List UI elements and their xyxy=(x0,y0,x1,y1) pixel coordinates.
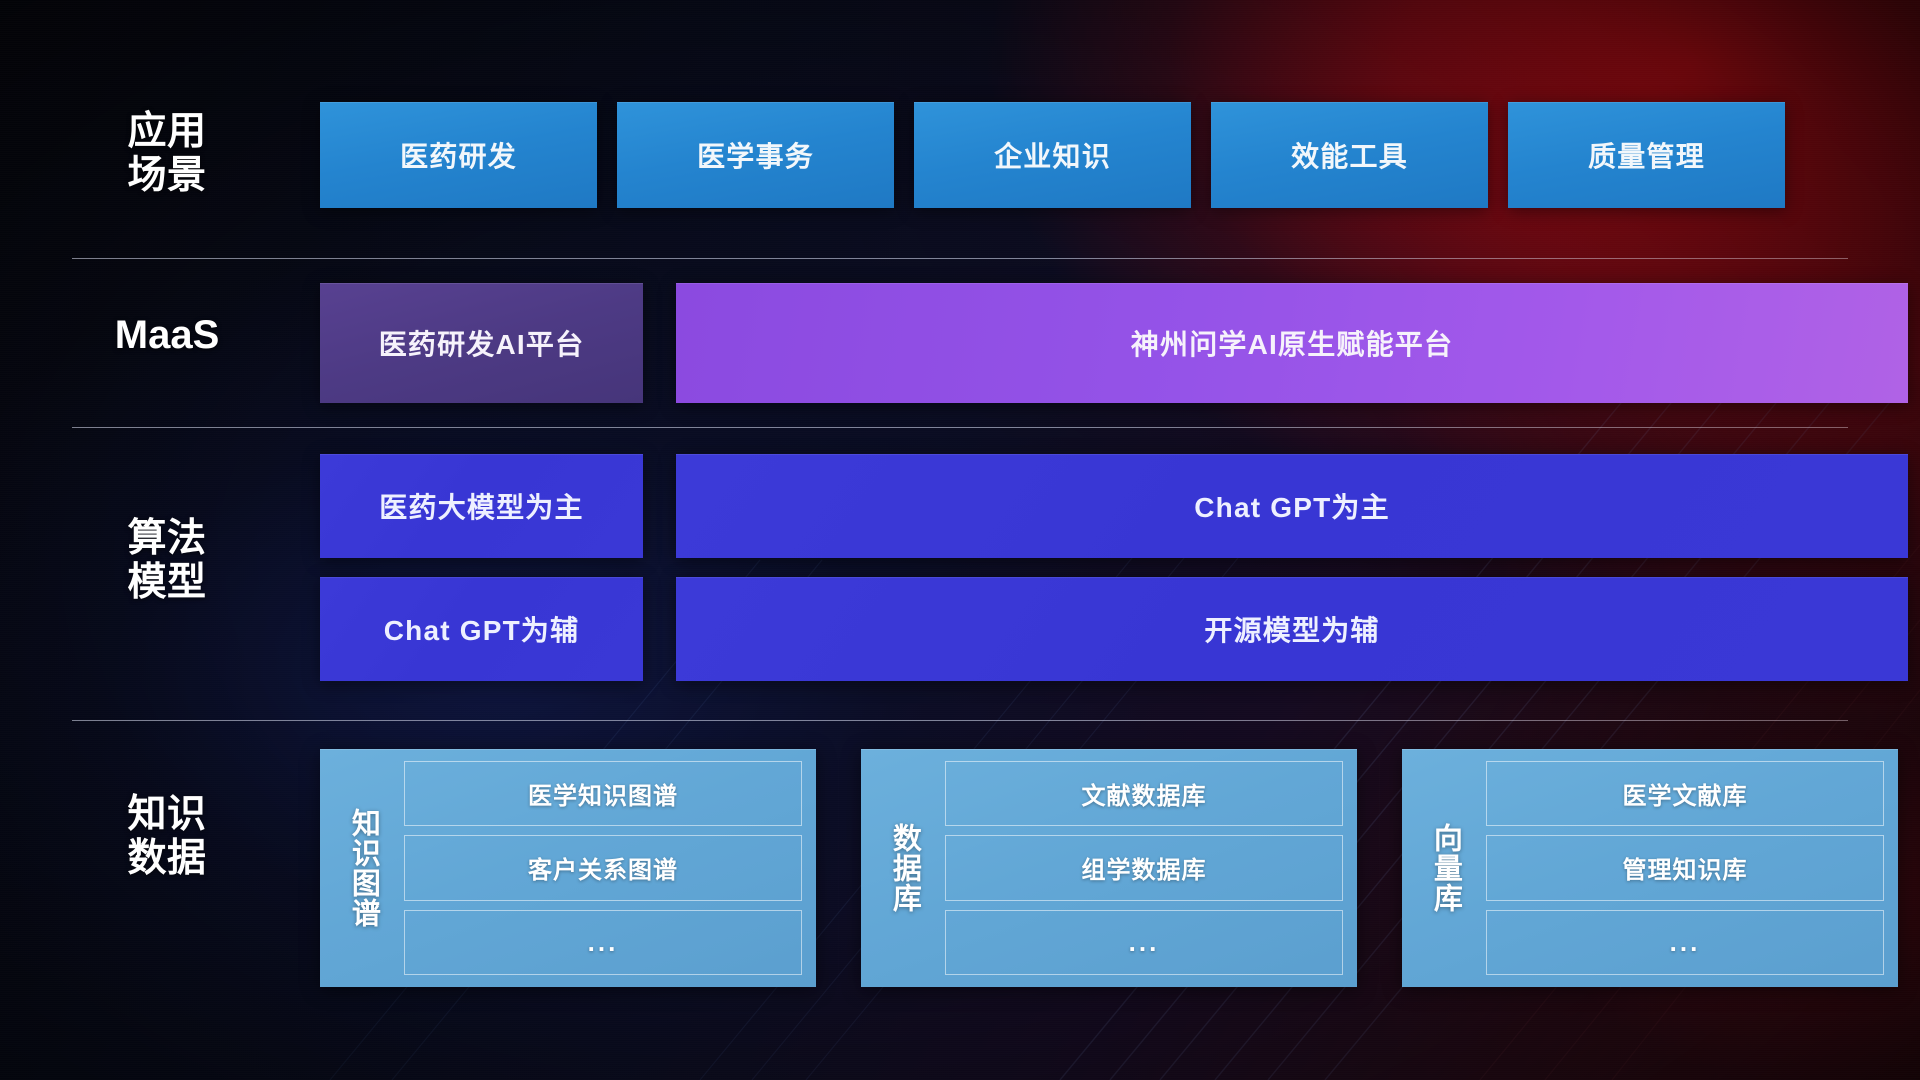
algo-card-pharma-llm-primary[interactable]: 医药大模型为主 xyxy=(320,454,643,558)
knowledge-item-management-knowledge-store[interactable]: 管理知识库 xyxy=(1486,835,1884,900)
knowledge-item-literature-database[interactable]: 文献数据库 xyxy=(945,761,1343,826)
layer-algorithm-models: 算法 模型 医药大模型为主 Chat GPT为主 Chat GPT为辅 开源模型… xyxy=(72,428,1848,718)
knowledge-group-database-items: 文献数据库 组学数据库 ... xyxy=(945,761,1343,975)
knowledge-group-database-label: 数据库 xyxy=(873,761,935,975)
layer-label-application-scenarios: 应用 场景 xyxy=(88,110,246,199)
app-card-medical-affairs-label: 医学事务 xyxy=(697,135,814,175)
app-card-quality-management[interactable]: 质量管理 xyxy=(1508,102,1785,208)
knowledge-group-database[interactable]: 数据库 文献数据库 组学数据库 ... xyxy=(861,749,1357,987)
layer-maas: MaaS 医药研发AI平台 神州问学AI原生赋能平台 xyxy=(72,259,1848,426)
diagram-body: 应用 场景 医药研发 医学事务 企业知识 效能工具 质量管理 xyxy=(72,86,1848,992)
knowledge-item-knowledge-graph-more[interactable]: ... xyxy=(404,910,802,975)
knowledge-group-list: 知识图谱 医学知识图谱 客户关系图谱 ... xyxy=(320,749,1898,987)
layer-label-algorithm-models: 算法 模型 xyxy=(88,517,246,606)
app-card-enterprise-knowledge[interactable]: 企业知识 xyxy=(914,102,1191,208)
knowledge-item-customer-relation-graph[interactable]: 客户关系图谱 xyxy=(404,835,802,900)
algo-card-chatgpt-secondary[interactable]: Chat GPT为辅 xyxy=(320,577,643,681)
app-card-rnd[interactable]: 医药研发 xyxy=(320,102,597,208)
maas-card-shenzhou-wenxue-platform[interactable]: 神州问学AI原生赋能平台 xyxy=(676,283,1908,403)
knowledge-group-vector-store[interactable]: 向量库 医学文献库 管理知识库 ... xyxy=(1402,749,1898,987)
knowledge-group-vector-store-items: 医学文献库 管理知识库 ... xyxy=(1486,761,1884,975)
knowledge-item-medical-literature-store-label: 医学文献库 xyxy=(1623,776,1748,811)
app-card-efficiency-tools[interactable]: 效能工具 xyxy=(1211,102,1488,208)
knowledge-item-medical-literature-store[interactable]: 医学文献库 xyxy=(1486,761,1884,826)
layer-knowledge-data: 知识 数据 知识图谱 医学知识图谱 客户关系图谱 ... xyxy=(72,721,1848,992)
knowledge-group-knowledge-graph-label: 知识图谱 xyxy=(332,761,394,975)
knowledge-item-database-more[interactable]: ... xyxy=(945,910,1343,975)
knowledge-item-literature-database-label: 文献数据库 xyxy=(1082,776,1207,811)
knowledge-group-knowledge-graph-items: 医学知识图谱 客户关系图谱 ... xyxy=(404,761,802,975)
knowledge-item-customer-relation-graph-label: 客户关系图谱 xyxy=(528,850,678,885)
app-card-quality-management-label: 质量管理 xyxy=(1588,135,1705,175)
algorithm-primary-row: 医药大模型为主 Chat GPT为主 xyxy=(320,454,1908,558)
app-card-medical-affairs[interactable]: 医学事务 xyxy=(617,102,894,208)
app-card-enterprise-knowledge-label: 企业知识 xyxy=(994,135,1111,175)
knowledge-item-database-more-label: ... xyxy=(1129,927,1160,958)
algorithm-secondary-row: Chat GPT为辅 开源模型为辅 xyxy=(320,577,1908,681)
maas-card-pharma-ai-platform[interactable]: 医药研发AI平台 xyxy=(320,283,643,403)
algo-card-chatgpt-primary-label: Chat GPT为主 xyxy=(1194,486,1390,526)
knowledge-item-medical-knowledge-graph[interactable]: 医学知识图谱 xyxy=(404,761,802,826)
algo-card-opensource-secondary[interactable]: 开源模型为辅 xyxy=(676,577,1908,681)
algo-card-pharma-llm-primary-label: 医药大模型为主 xyxy=(379,486,583,526)
knowledge-item-omics-database[interactable]: 组学数据库 xyxy=(945,835,1343,900)
knowledge-item-omics-database-label: 组学数据库 xyxy=(1082,850,1207,885)
layer-application-scenarios: 应用 场景 医药研发 医学事务 企业知识 效能工具 质量管理 xyxy=(72,86,1848,256)
maas-card-pharma-ai-platform-label: 医药研发AI平台 xyxy=(379,323,585,363)
maas-card-shenzhou-wenxue-platform-label: 神州问学AI原生赋能平台 xyxy=(1131,323,1453,363)
knowledge-item-medical-knowledge-graph-label: 医学知识图谱 xyxy=(528,776,678,811)
knowledge-item-management-knowledge-store-label: 管理知识库 xyxy=(1623,850,1748,885)
knowledge-item-vector-store-more[interactable]: ... xyxy=(1486,910,1884,975)
knowledge-item-vector-store-more-label: ... xyxy=(1670,927,1701,958)
knowledge-group-knowledge-graph[interactable]: 知识图谱 医学知识图谱 客户关系图谱 ... xyxy=(320,749,816,987)
maas-card-list: 医药研发AI平台 神州问学AI原生赋能平台 xyxy=(320,283,1908,403)
app-card-efficiency-tools-label: 效能工具 xyxy=(1291,135,1408,175)
algo-card-chatgpt-primary[interactable]: Chat GPT为主 xyxy=(676,454,1908,558)
application-card-list: 医药研发 医学事务 企业知识 效能工具 质量管理 xyxy=(320,102,1785,208)
architecture-diagram-slide: 应用 场景 医药研发 医学事务 企业知识 效能工具 质量管理 xyxy=(0,0,1920,1080)
algo-card-chatgpt-secondary-label: Chat GPT为辅 xyxy=(384,609,580,649)
algo-card-opensource-secondary-label: 开源模型为辅 xyxy=(1204,609,1379,649)
layer-label-maas: MaaS xyxy=(88,313,246,359)
layer-label-knowledge-data: 知识 数据 xyxy=(88,793,246,882)
knowledge-item-knowledge-graph-more-label: ... xyxy=(588,927,619,958)
knowledge-group-vector-store-label: 向量库 xyxy=(1414,761,1476,975)
app-card-rnd-label: 医药研发 xyxy=(400,135,517,175)
